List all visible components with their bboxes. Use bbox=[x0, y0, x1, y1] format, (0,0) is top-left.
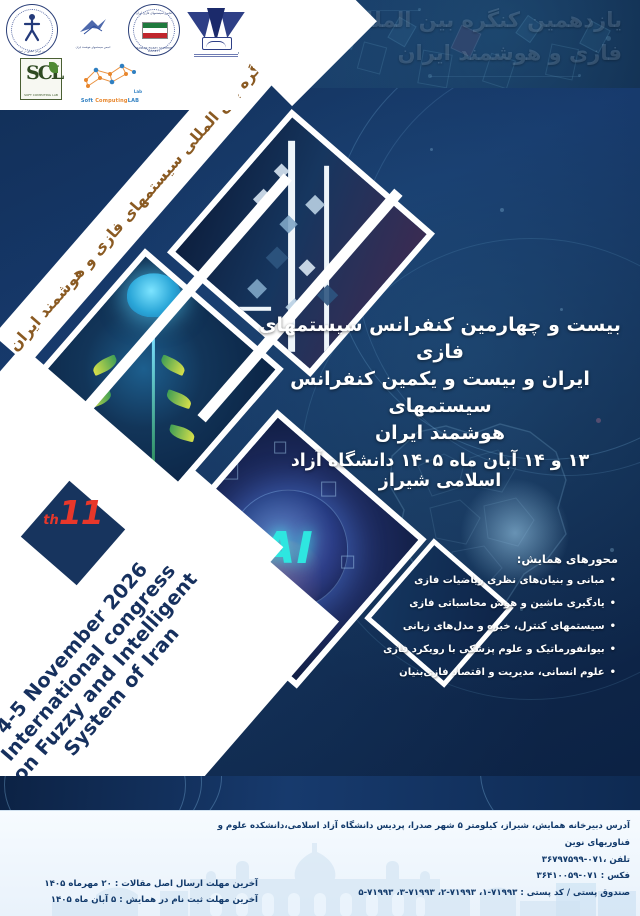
footer-contact-details: آدرس دبیرخانه همایش، شیراز، کیلومتر ۵ شه… bbox=[210, 818, 630, 902]
bullet-icon: • bbox=[610, 644, 616, 655]
title-line-3: هوشمند ایران bbox=[258, 420, 622, 447]
sponsor-logo-panel: انجمن سیستمهای فازی ایران IRANIAN FUZZY … bbox=[0, 0, 238, 110]
footer-deadlines: آخرین مهلت ارسال اصل مقالات : ۲۰ مهرماه … bbox=[8, 877, 258, 909]
topics-heading: محورهای همایش: bbox=[288, 552, 618, 566]
bullet-icon: • bbox=[610, 598, 616, 609]
topic-label: بیوانفورماتیک و علوم پزشکی با رویکرد فاز… bbox=[383, 644, 605, 655]
bullet-icon: • bbox=[610, 667, 616, 678]
footer-postal-code: صندوق پستی / کد پستی : ۷۱۹۹۳-۱، ۷۱۹۹۳-۲،… bbox=[210, 885, 630, 902]
conference-poster: یازدهمین کنگره بین المللی سیستمهای فازی … bbox=[0, 0, 640, 916]
footer-address: آدرس دبیرخانه همایش، شیراز، کیلومتر ۵ شه… bbox=[210, 818, 630, 852]
scl-emblem-logo: SCL SOFT COMPUTING LAB bbox=[20, 58, 62, 100]
bullet-icon: • bbox=[610, 621, 616, 632]
deadline-registration: آخرین مهلت ثبت نام در همایش : ۵ آبان ماه… bbox=[8, 893, 258, 909]
footer-phone: تلفن ،۰۷۱-۳۶۷۹۷۵۹۹ bbox=[210, 852, 630, 869]
footer-contact-section: آدرس دبیرخانه همایش، شیراز، کیلومتر ۵ شه… bbox=[0, 810, 640, 916]
topic-label: سیستمهای کنترل، خبره و مدل‌های زبانی bbox=[403, 621, 605, 632]
topic-item: •بیوانفورماتیک و علوم پزشکی با رویکرد فا… bbox=[288, 644, 618, 655]
title-line-1: بیست و چهارمین کنفرانس سیستمهای فازی bbox=[258, 312, 622, 366]
deadline-paper-submission: آخرین مهلت ارسال اصل مقالات : ۲۰ مهرماه … bbox=[8, 877, 258, 893]
badge-number: 11 bbox=[59, 496, 103, 529]
title-line-2: ایران و بیست و یکمین کنفرانس سیستمهای bbox=[258, 366, 622, 420]
edition-badge: 11 th bbox=[21, 481, 125, 585]
iranian-operations-research-society-logo: انجمن ایرانی تحقیق در عملیات bbox=[6, 4, 58, 56]
soft-computing-lab-logo: Lab Soft ComputingLAB bbox=[76, 56, 144, 102]
islamic-azad-university-logo bbox=[190, 4, 242, 56]
topic-label: یادگیری ماشین و هوش محاسباتی فازی bbox=[409, 598, 604, 609]
conference-date-venue: ۱۳ و ۱۴ آبان ماه ۱۴۰۵ دانشگاه آزاد اسلام… bbox=[258, 451, 622, 491]
iranian-fuzzy-systems-society-logo: انجمن سیستمهای فازی ایران IRANIAN FUZZY … bbox=[128, 4, 180, 56]
topic-item: •سیستمهای کنترل، خبره و مدل‌های زبانی bbox=[288, 621, 618, 632]
iranian-intelligent-systems-society-logo: انجمن سیستمهای هوشمند ایران bbox=[68, 5, 118, 55]
topics-section: محورهای همایش: •مبانی و بنیان‌های نظری ر… bbox=[288, 552, 618, 690]
main-title-block: بیست و چهارمین کنفرانس سیستمهای فازی ایر… bbox=[258, 312, 622, 491]
bottom-separator-band bbox=[0, 776, 640, 810]
bullet-icon: • bbox=[610, 575, 616, 586]
topic-item: •مبانی و بنیان‌های نظری ریاضیات فازی bbox=[288, 575, 618, 586]
badge-ordinal: th bbox=[43, 513, 58, 528]
footer-fax: فکس : ۰۷۱-۳۶۴۱۰۰۵۹ bbox=[210, 868, 630, 885]
topic-label: مبانی و بنیان‌های نظری ریاضیات فازی bbox=[414, 575, 605, 586]
watermark-line-2: فازی و هوشمند ایران bbox=[398, 41, 622, 65]
topic-label: علوم انسانی، مدیریت و اقتصاد فازی‌بنیان bbox=[399, 667, 604, 678]
topic-item: •علوم انسانی، مدیریت و اقتصاد فازی‌بنیان bbox=[288, 667, 618, 678]
topic-item: •یادگیری ماشین و هوش محاسباتی فازی bbox=[288, 598, 618, 609]
